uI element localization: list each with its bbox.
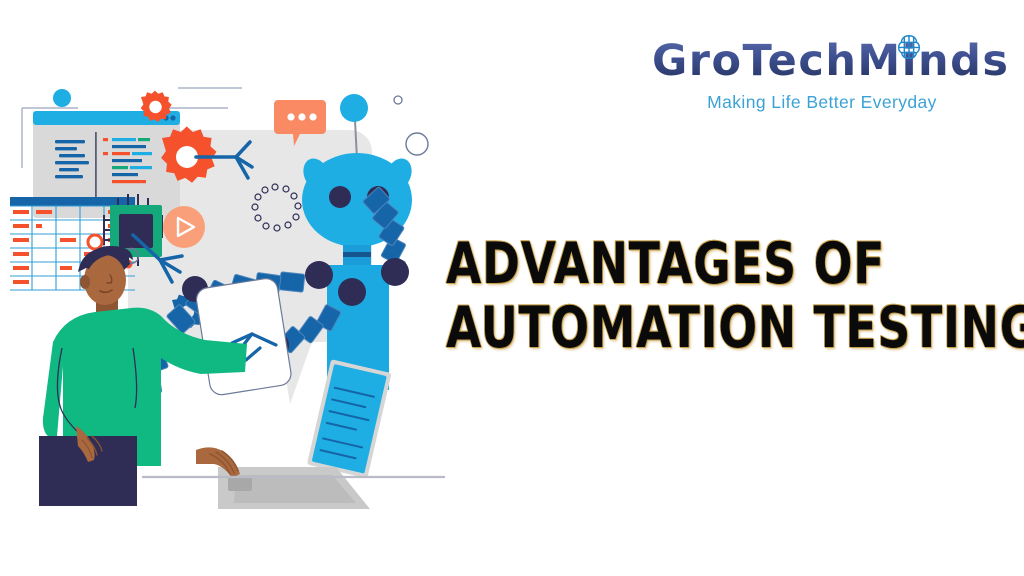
play-button [163,206,205,248]
headline-line-2: AUTOMATION TESTING [446,296,878,360]
logo-wordmark: GroTechMinds [652,40,1009,83]
headline-line-1: ADVANTAGES OF [446,232,878,296]
automation-testing-illustration [0,60,445,530]
brand-logo[interactable]: GroTechMinds Making Life Better Everyday [652,40,992,130]
brain-icon [894,32,924,62]
banner-root: GroTechMinds Making Life Better Everyday [0,0,1024,576]
logo-tagline: Making Life Better Everyday [652,92,992,113]
page-title: ADVANTAGES OF AUTOMATION TESTING [446,232,986,360]
